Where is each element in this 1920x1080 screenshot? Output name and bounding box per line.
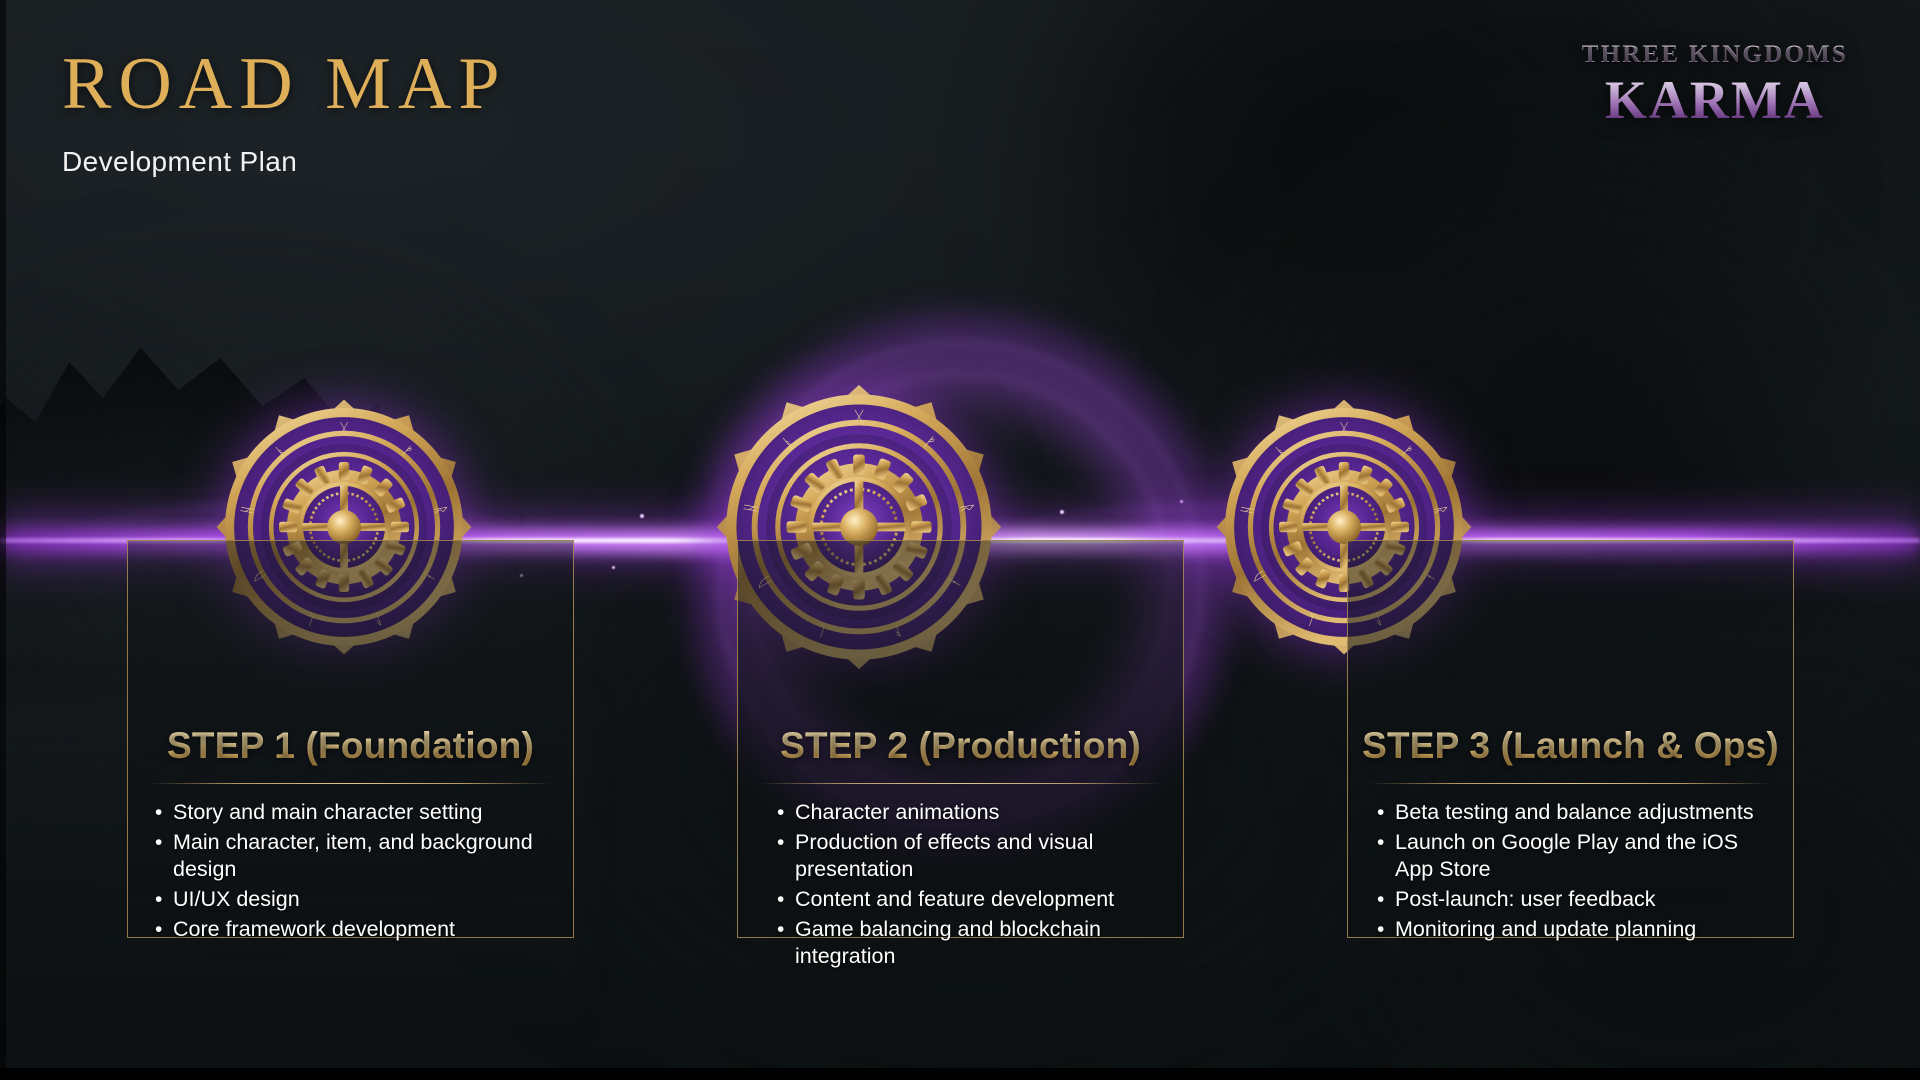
list-item: Beta testing and balance adjustments xyxy=(1376,799,1777,826)
step-card-3[interactable]: STEP 3 (Launch & Ops) Beta testing and b… xyxy=(1347,540,1794,938)
step-card-1[interactable]: STEP 1 (Foundation) Story and main chara… xyxy=(127,540,574,938)
list-item: Character animations xyxy=(776,799,1167,826)
list-item: Production of effects and visual present… xyxy=(776,829,1167,883)
list-item: Monitoring and update planning xyxy=(1376,916,1777,943)
list-item: Core framework development xyxy=(154,916,557,943)
step-card-list: Character animations Production of effec… xyxy=(776,799,1167,973)
list-item: Story and main character setting xyxy=(154,799,557,826)
page-subtitle: Development Plan xyxy=(62,146,507,178)
step-card-title: STEP 3 (Launch & Ops) xyxy=(1348,725,1793,767)
step-card-title: STEP 2 (Production) xyxy=(738,725,1183,767)
page-title: ROAD MAP xyxy=(62,46,507,124)
card-divider xyxy=(1370,783,1771,784)
svg-text:ᚷ: ᚷ xyxy=(340,421,349,437)
list-item: UI/UX design xyxy=(154,886,557,913)
card-divider xyxy=(150,783,551,784)
card-divider xyxy=(760,783,1161,784)
step-card-list: Story and main character setting Main ch… xyxy=(154,799,557,946)
logo-top-line: THREE KINGDOMS xyxy=(1582,42,1848,67)
list-item: Content and feature development xyxy=(776,886,1167,913)
svg-text:ᚷ: ᚷ xyxy=(854,410,864,427)
step-card-title: STEP 1 (Foundation) xyxy=(128,725,573,767)
bottom-letterbox-bar xyxy=(0,1068,1920,1080)
list-item: Game balancing and blockchain integratio… xyxy=(776,916,1167,970)
slide-header: ROAD MAP Development Plan xyxy=(62,46,507,178)
logo-main-line: KARMA xyxy=(1582,73,1848,127)
left-edge-vignette xyxy=(0,0,6,1080)
roadmap-slide: ROAD MAP Development Plan THREE KINGDOMS… xyxy=(0,0,1920,1080)
step-card-list: Beta testing and balance adjustments Lau… xyxy=(1376,799,1777,946)
svg-text:ᚷ: ᚷ xyxy=(1340,421,1349,437)
list-item: Launch on Google Play and the iOS App St… xyxy=(1376,829,1777,883)
list-item: Post-launch: user feedback xyxy=(1376,886,1777,913)
list-item: Main character, item, and background des… xyxy=(154,829,557,883)
game-logo: THREE KINGDOMS KARMA xyxy=(1582,42,1848,127)
step-card-2[interactable]: STEP 2 (Production) Character animations… xyxy=(737,540,1184,938)
